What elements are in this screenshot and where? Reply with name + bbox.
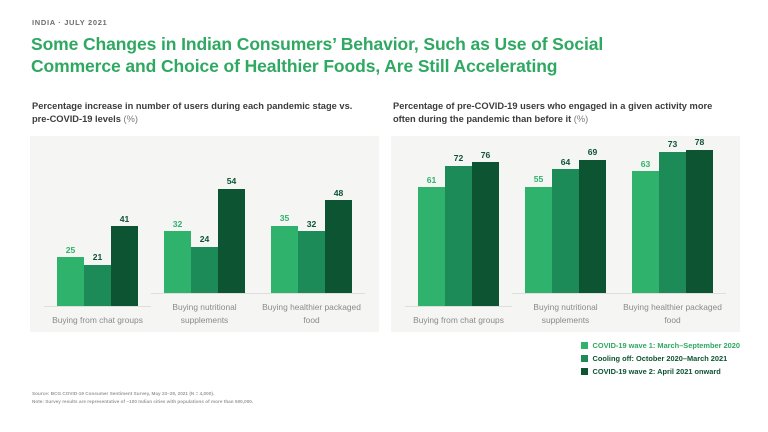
bar[interactable] <box>632 171 659 293</box>
category-label: Buying nutritional supplements <box>512 301 619 325</box>
legend-item[interactable]: COVID-19 wave 1: March–September 2020 <box>581 341 740 350</box>
bar-item[interactable]: 73 <box>659 138 686 293</box>
bar-item[interactable]: 61 <box>418 151 445 306</box>
bar[interactable] <box>445 166 472 306</box>
bar[interactable] <box>57 257 84 305</box>
bar-item[interactable]: 25 <box>57 151 84 306</box>
bar-group-bars: 617276 <box>405 151 512 307</box>
chart-right-title: Percentage of pre-COVID-19 users who eng… <box>393 100 723 127</box>
bar-value-label: 41 <box>120 215 130 224</box>
chart-legend: COVID-19 wave 1: March–September 2020Coo… <box>581 341 740 380</box>
bar-value-label: 35 <box>280 214 290 223</box>
legend-label: COVID-19 wave 2: April 2021 onward <box>593 367 721 376</box>
bar-group: 637378Buying healthier packaged food <box>619 146 726 326</box>
bar[interactable] <box>84 265 111 306</box>
bar[interactable] <box>191 247 218 294</box>
bar-group-bars: 322454 <box>151 146 258 295</box>
bar-item[interactable]: 78 <box>686 138 713 293</box>
bar-value-label: 48 <box>334 189 344 198</box>
bar-item[interactable]: 32 <box>298 146 325 294</box>
bar[interactable] <box>325 200 352 293</box>
legend-swatch-icon <box>581 355 588 362</box>
slide: INDIA · JULY 2021 Some Changes in Indian… <box>0 0 768 432</box>
bar-value-label: 72 <box>454 154 464 163</box>
chart-right-groups: 617276Buying from chat groups556469Buyin… <box>405 146 726 326</box>
bar-group: 322454Buying nutritional supplements <box>151 146 258 326</box>
bar-group-bars: 556469 <box>512 146 619 295</box>
legend-item[interactable]: COVID-19 wave 2: April 2021 onward <box>581 367 740 376</box>
bar-group: 353248Buying healthier packaged food <box>258 146 365 326</box>
bar-value-label: 32 <box>307 220 317 229</box>
chart-left-title: Percentage increase in number of users d… <box>32 100 362 127</box>
bar-item[interactable]: 32 <box>164 146 191 294</box>
bar-item[interactable]: 24 <box>191 146 218 294</box>
bar-item[interactable]: 21 <box>84 151 111 306</box>
legend-swatch-icon <box>581 342 588 349</box>
bar-value-label: 55 <box>534 175 544 184</box>
chart-left-groups: 252141Buying from chat groups322454Buyin… <box>44 146 365 326</box>
bar-value-label: 63 <box>641 160 651 169</box>
bar-group-bars: 252141 <box>44 151 151 307</box>
page-title: Some Changes in Indian Consumers’ Behavi… <box>31 33 681 78</box>
chart-right-title-unit: (%) <box>574 114 588 124</box>
bar-item[interactable]: 54 <box>218 146 245 294</box>
footnote-note: Note: Survey results are representative … <box>32 398 253 406</box>
bar[interactable] <box>659 152 686 293</box>
chart-right-title-text: Percentage of pre-COVID-19 users who eng… <box>393 101 712 124</box>
bar-value-label: 25 <box>66 246 76 255</box>
bar-group: 252141Buying from chat groups <box>44 146 151 326</box>
bar[interactable] <box>298 231 325 293</box>
bar-item[interactable]: 76 <box>472 151 499 306</box>
bar-item[interactable]: 41 <box>111 151 138 306</box>
bar-item[interactable]: 55 <box>525 146 552 294</box>
bar[interactable] <box>686 150 713 293</box>
legend-swatch-icon <box>581 368 588 375</box>
footnote-source: Source: BCG COVID-19 Consumer Sentiment … <box>32 390 253 398</box>
bar[interactable] <box>552 169 579 293</box>
bar[interactable] <box>525 187 552 294</box>
bar-value-label: 78 <box>695 138 705 147</box>
bar[interactable] <box>418 187 445 305</box>
bar-item[interactable]: 72 <box>445 151 472 306</box>
category-label: Buying from chat groups <box>405 314 512 326</box>
bar-value-label: 32 <box>173 220 183 229</box>
bar-item[interactable]: 63 <box>632 138 659 293</box>
chart-left-plot: 252141Buying from chat groups322454Buyin… <box>30 136 379 332</box>
bar-value-label: 76 <box>481 151 491 160</box>
category-label: Buying from chat groups <box>44 314 151 326</box>
bar-value-label: 54 <box>227 177 237 186</box>
bar-group: 617276Buying from chat groups <box>405 146 512 326</box>
bar[interactable] <box>472 162 499 305</box>
chart-left-title-text: Percentage increase in number of users d… <box>32 101 352 124</box>
bar-item[interactable]: 64 <box>552 146 579 294</box>
bar[interactable] <box>218 189 245 294</box>
bar[interactable] <box>271 226 298 294</box>
bar-value-label: 64 <box>561 158 571 167</box>
bar-value-label: 69 <box>588 148 598 157</box>
bar-value-label: 61 <box>427 176 437 185</box>
category-label: Buying nutritional supplements <box>151 301 258 325</box>
legend-label: COVID-19 wave 1: March–September 2020 <box>593 341 740 350</box>
chart-right-plot: 617276Buying from chat groups556469Buyin… <box>391 136 740 332</box>
bar[interactable] <box>579 160 606 294</box>
category-label: Buying healthier packaged food <box>258 301 365 325</box>
chart-left-title-unit: (%) <box>123 114 137 124</box>
bar-group-bars: 353248 <box>258 146 365 295</box>
legend-label: Cooling off: October 2020–March 2021 <box>593 354 728 363</box>
bar[interactable] <box>111 226 138 305</box>
eyebrow-label: INDIA · JULY 2021 <box>32 18 740 27</box>
footnote: Source: BCG COVID-19 Consumer Sentiment … <box>32 390 253 406</box>
charts-row: Percentage increase in number of users d… <box>30 100 740 332</box>
bar-group-bars: 637378 <box>619 138 726 294</box>
chart-panel-left: Percentage increase in number of users d… <box>30 100 379 332</box>
bar-value-label: 73 <box>668 140 678 149</box>
legend-item[interactable]: Cooling off: October 2020–March 2021 <box>581 354 740 363</box>
bar-item[interactable]: 69 <box>579 146 606 294</box>
bar-item[interactable]: 35 <box>271 146 298 294</box>
chart-panel-right: Percentage of pre-COVID-19 users who eng… <box>391 100 740 332</box>
bar-value-label: 24 <box>200 235 210 244</box>
bar-item[interactable]: 48 <box>325 146 352 294</box>
bar-group: 556469Buying nutritional supplements <box>512 146 619 326</box>
bar-value-label: 21 <box>93 253 103 262</box>
category-label: Buying healthier packaged food <box>619 301 726 325</box>
bar[interactable] <box>164 231 191 293</box>
